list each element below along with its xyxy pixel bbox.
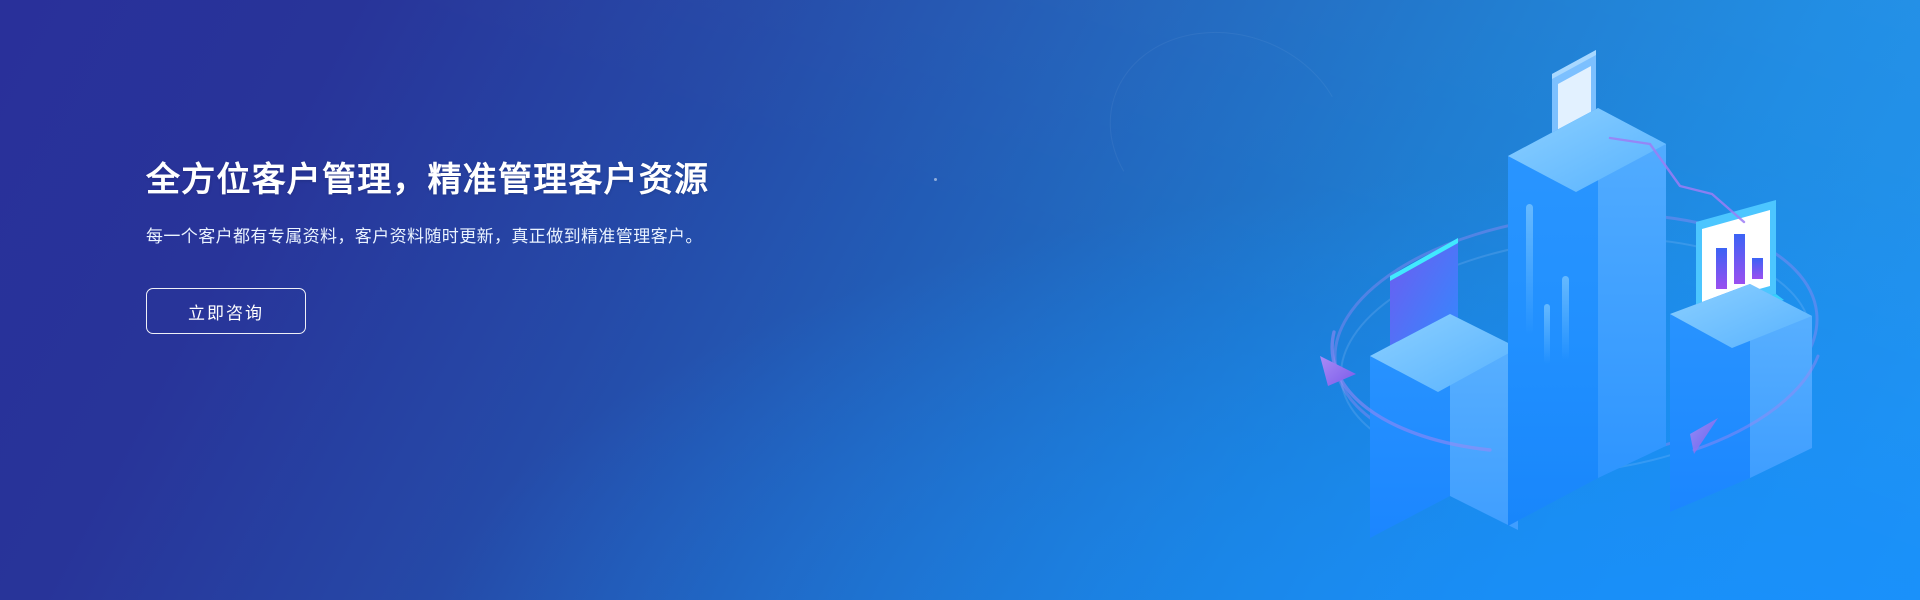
- hero-subtitle: 每一个客户都有专属资料，客户资料随时更新，真正做到精准管理客户。: [146, 223, 726, 251]
- hero-copy: 全方位客户管理，精准管理客户资源 每一个客户都有专属资料，客户资料随时更新，真正…: [146, 158, 786, 334]
- pillar-right: [1670, 200, 1812, 512]
- arrow-left-down-icon: [1320, 356, 1356, 386]
- pillar-center: [1508, 50, 1666, 526]
- pillar-left: [1370, 238, 1518, 538]
- hero-illustration: [1298, 26, 1858, 586]
- consult-now-button[interactable]: 立即咨询: [146, 288, 306, 334]
- hero-banner: 全方位客户管理，精准管理客户资源 每一个客户都有专属资料，客户资料随时更新，真正…: [0, 0, 1920, 600]
- page-title: 全方位客户管理，精准管理客户资源: [146, 158, 786, 203]
- background-spark: [934, 178, 937, 181]
